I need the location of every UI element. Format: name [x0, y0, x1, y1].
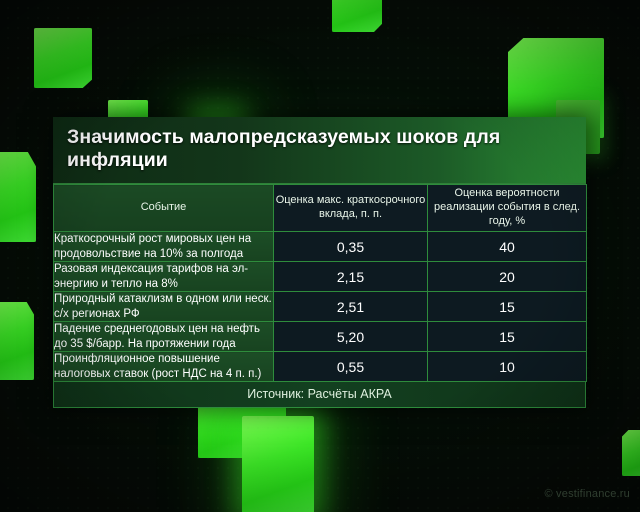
cell-event: Разовая индексация тарифов на эл-энергию…: [54, 262, 274, 292]
page-title: Значимость малопредсказуемых шоков для и…: [53, 117, 586, 184]
decor-cube-top-center: [332, 0, 382, 32]
cell-probability: 15: [428, 292, 587, 322]
decor-cube-bottom-center: [242, 416, 314, 512]
decor-cube-left-lower: [0, 302, 34, 380]
table-body: Краткосрочный рост мировых цен на продов…: [54, 232, 587, 382]
table-row: Разовая индексация тарифов на эл-энергию…: [54, 262, 587, 292]
cell-contribution: 5,20: [274, 322, 428, 352]
cell-probability: 15: [428, 322, 587, 352]
column-header-probability: Оценка вероятности реализации события в …: [428, 185, 587, 232]
table-row: Природный катаклизм в одном или неск. с/…: [54, 292, 587, 322]
slide-canvas: Значимость малопредсказуемых шоков для и…: [0, 0, 640, 512]
table-row: Проинфляционное повышение налоговых став…: [54, 352, 587, 382]
cell-contribution: 0,35: [274, 232, 428, 262]
cell-event: Краткосрочный рост мировых цен на продов…: [54, 232, 274, 262]
cell-probability: 20: [428, 262, 587, 292]
cell-probability: 10: [428, 352, 587, 382]
cell-event: Падение среднегодовых цен на нефть до 35…: [54, 322, 274, 352]
decor-cube-left-upper: [34, 28, 92, 88]
cell-contribution: 2,15: [274, 262, 428, 292]
watermark: © vestifinance.ru: [545, 488, 631, 500]
column-header-contribution: Оценка макс. краткосрочного вклада, п. п…: [274, 185, 428, 232]
cell-contribution: 0,55: [274, 352, 428, 382]
column-header-event: Событие: [54, 185, 274, 232]
cell-probability: 40: [428, 232, 587, 262]
table-header: Событие Оценка макс. краткосрочного вкла…: [54, 185, 587, 232]
decor-cube-bottom-right: [622, 430, 640, 476]
cell-event: Природный катаклизм в одном или неск. с/…: [54, 292, 274, 322]
cell-event: Проинфляционное повышение налоговых став…: [54, 352, 274, 382]
source-note: Источник: Расчёты АКРА: [53, 382, 586, 408]
table-row: Краткосрочный рост мировых цен на продов…: [54, 232, 587, 262]
decor-cube-left-mid: [0, 152, 36, 242]
table-header-row: Событие Оценка макс. краткосрочного вкла…: [54, 185, 587, 232]
cell-contribution: 2,51: [274, 292, 428, 322]
infographic-panel: Значимость малопредсказуемых шоков для и…: [53, 117, 586, 408]
shocks-table: Событие Оценка макс. краткосрочного вкла…: [53, 184, 587, 382]
table-row: Падение среднегодовых цен на нефть до 35…: [54, 322, 587, 352]
